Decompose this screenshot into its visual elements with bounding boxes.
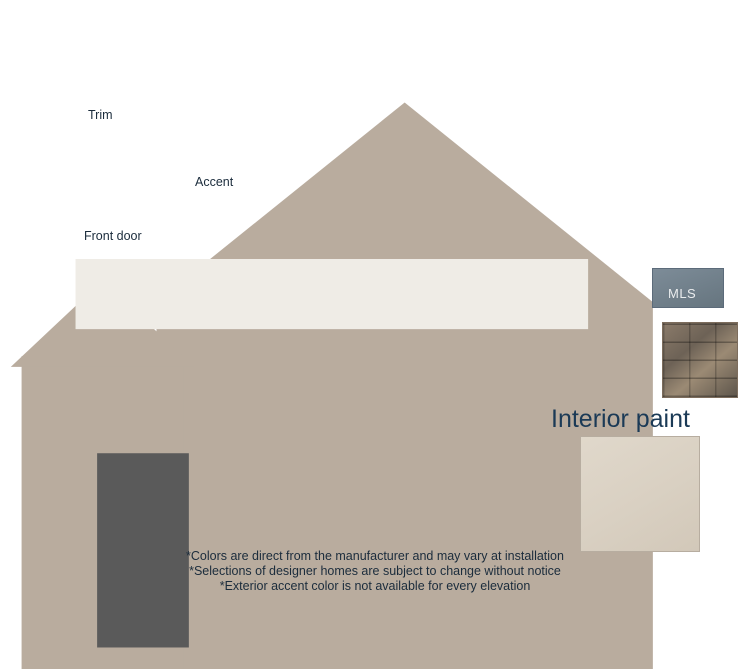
label-trim: Trim [88, 108, 113, 122]
heading-interior-paint: Interior paint [551, 405, 690, 434]
design-selections-board: 6013 BALLAST DRIVE Shelby at Cypress Rid… [0, 0, 750, 600]
label-accent: Accent [195, 175, 233, 189]
exterior-stone-swatch [662, 322, 738, 398]
exterior-accent-color-swatch [652, 268, 724, 308]
footer-disclaimers: *Colors are direct from the manufacturer… [0, 549, 750, 594]
exterior-elevation-rendering: Trim Accent Front door [0, 0, 280, 250]
interior-paint-swatch [580, 436, 700, 552]
footer-line-1: *Colors are direct from the manufacturer… [0, 549, 750, 564]
label-front-door: Front door [84, 229, 142, 243]
footer-line-2: *Selections of designer homes are subjec… [0, 564, 750, 579]
footer-line-3: *Exterior accent color is not available … [0, 579, 750, 594]
